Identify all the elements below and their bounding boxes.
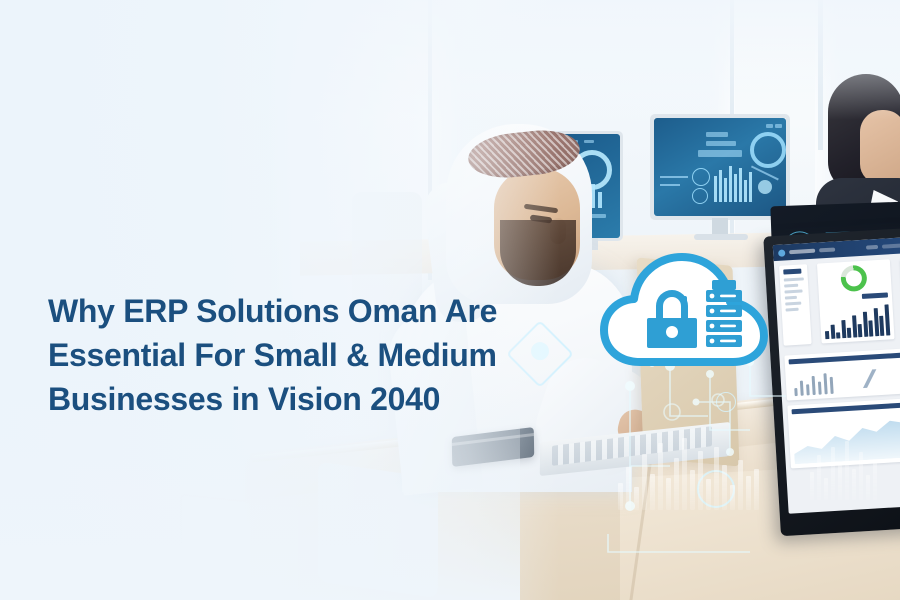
face: [860, 110, 900, 184]
hologram-bar-chart: [618, 420, 798, 510]
completion-gauge: [840, 265, 867, 292]
beard: [500, 220, 576, 286]
cloud-security-icon: [596, 244, 776, 384]
header-label: [819, 247, 835, 252]
bar-chart: [823, 301, 889, 339]
dashboard-top-row: [774, 253, 900, 351]
monitor-imac-center: [654, 118, 786, 216]
header-action: [866, 245, 878, 250]
header-action: [882, 244, 900, 249]
page-title: Why ERP Solutions Oman Are Essential For…: [48, 289, 548, 421]
chair: [180, 494, 300, 600]
headline-line-2: Essential For Small & Medium: [48, 333, 548, 377]
hologram-bar-chart-secondary: [810, 430, 900, 500]
header-label: [789, 249, 815, 255]
app-logo-icon: [778, 249, 785, 256]
headline-line-1: Why ERP Solutions Oman Are: [48, 289, 548, 333]
server-rack-icon: [706, 280, 742, 347]
kpi-bar-chart-card: [817, 259, 894, 343]
headline-line-3: Businesses in Vision 2040: [48, 377, 548, 421]
sidebar-card: [779, 264, 812, 346]
monitor-base: [694, 234, 748, 240]
blog-header-banner: Why ERP Solutions Oman Are Essential For…: [0, 0, 900, 600]
